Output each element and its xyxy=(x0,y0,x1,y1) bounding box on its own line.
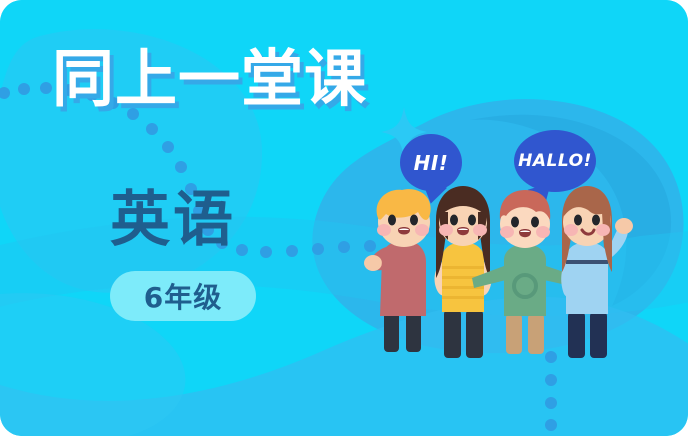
child-2-brunette-girl xyxy=(435,186,492,358)
child-3-leg-right xyxy=(528,314,544,354)
subject-label: 英语 xyxy=(110,190,236,250)
speech-bubble-hallo: HALLO! xyxy=(514,130,596,192)
speech-bubble-hallo-text: HALLO! xyxy=(518,151,592,171)
child-4-hand xyxy=(615,218,633,234)
child-4-cheek-right xyxy=(596,224,610,236)
speech-bubble-hi: HI! xyxy=(400,134,462,191)
child-4-eye-right xyxy=(592,215,600,226)
child-3-cheek-left xyxy=(500,226,514,238)
child-3-leg-left xyxy=(506,314,522,354)
child-3-eye-right xyxy=(531,217,539,228)
path-dot xyxy=(40,82,52,94)
child-2-leg-right xyxy=(466,310,483,358)
child-3-cheek-right xyxy=(536,226,550,238)
child-2-leg-left xyxy=(444,310,461,358)
path-dot xyxy=(175,161,187,173)
path-dot xyxy=(545,397,557,409)
path-dot xyxy=(260,246,272,258)
child-3-shirt xyxy=(504,244,546,316)
path-dot xyxy=(236,244,248,256)
path-dot xyxy=(338,241,350,253)
path-dot xyxy=(18,83,30,95)
four-children-illustration xyxy=(360,186,680,366)
child-1-hair xyxy=(377,189,431,220)
course-cover-card: 同上一堂课 英语 6年级 HI! HALLO! xyxy=(0,0,688,436)
path-dot xyxy=(162,141,174,153)
path-dot xyxy=(286,245,298,257)
child-3-eye-left xyxy=(511,217,519,228)
child-1-blonde-boy xyxy=(364,189,431,352)
child-1-leg-right xyxy=(406,312,421,352)
child-4-lightbrown-girl xyxy=(561,186,633,358)
child-1-hand xyxy=(364,255,382,271)
child-1-cheek-right xyxy=(415,224,429,236)
path-dot xyxy=(545,419,557,431)
child-1-eye-left xyxy=(388,215,396,226)
child-4-shirt xyxy=(566,242,608,314)
child-4-leg-left xyxy=(568,312,585,358)
child-2-eye-left xyxy=(450,215,458,226)
speech-bubble-hi-text: HI! xyxy=(414,151,449,175)
grade-badge-label: 6年级 xyxy=(144,276,222,316)
child-4-eye-left xyxy=(574,215,582,226)
path-dot xyxy=(146,123,158,135)
child-4-cheek-left xyxy=(564,224,578,236)
page-title: 同上一堂课 xyxy=(52,48,367,110)
child-4-leg-right xyxy=(590,312,607,358)
child-1-shirt xyxy=(380,240,426,316)
child-1-cheek-left xyxy=(377,224,391,236)
path-dot xyxy=(545,374,557,386)
child-2-cheek-right xyxy=(473,224,487,236)
path-dot xyxy=(0,87,10,99)
child-2-cheek-left xyxy=(439,224,453,236)
child-1-leg-left xyxy=(384,312,399,352)
child-1-eye-right xyxy=(410,215,418,226)
child-4-shirt-trim xyxy=(566,260,608,264)
child-2-eye-right xyxy=(468,215,476,226)
path-dot xyxy=(312,243,324,255)
grade-badge: 6年级 xyxy=(110,271,256,321)
